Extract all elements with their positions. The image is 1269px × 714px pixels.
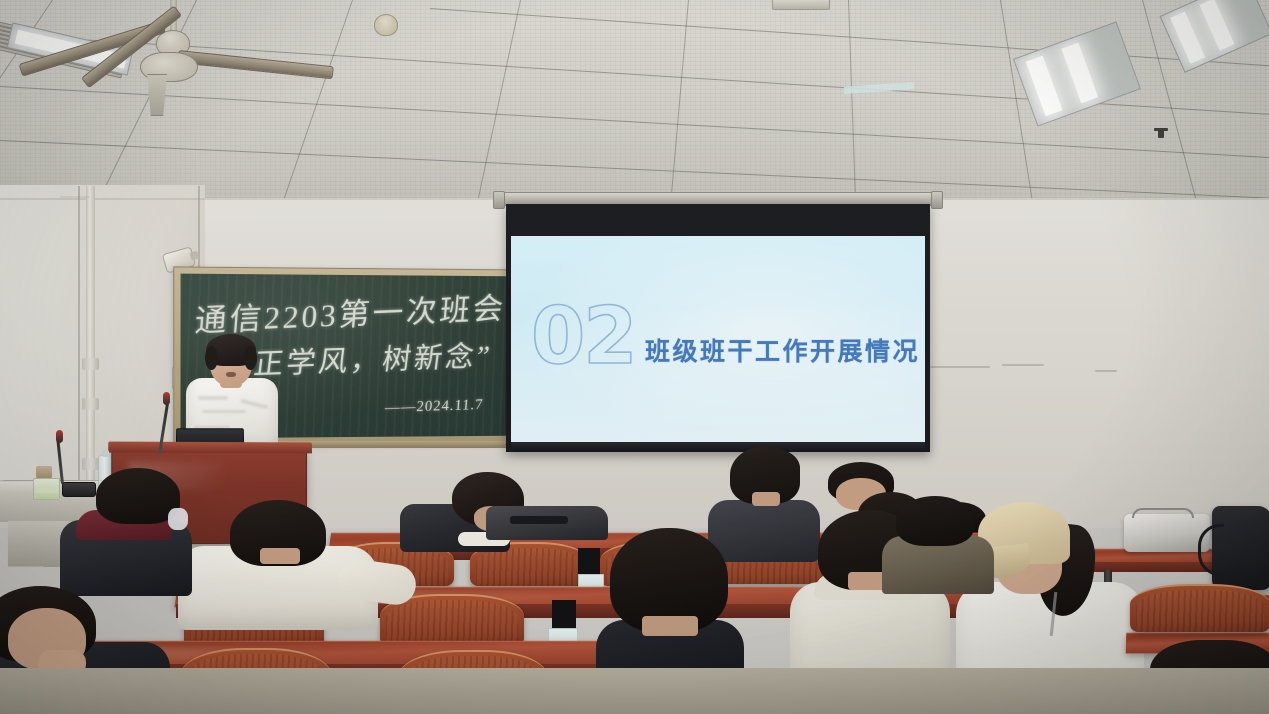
- conduit-clip: [82, 358, 99, 370]
- desk-microphone-head: [56, 430, 63, 443]
- student-cream-sweatshirt: [178, 500, 396, 626]
- blackboard-date-text: ——2024.11.7: [384, 397, 484, 417]
- lectern-top-edge: [108, 442, 312, 454]
- projected-slide: 02 班级班干工作开展情况: [511, 236, 925, 442]
- student-neck: [260, 548, 300, 564]
- student-neck: [642, 616, 698, 636]
- face-mask: [168, 508, 188, 530]
- wall-scuff: [1095, 370, 1117, 372]
- wall-seam: [78, 186, 80, 502]
- floor: [0, 668, 1269, 714]
- conduit-clip: [82, 398, 99, 410]
- presenter-hair-right: [244, 346, 257, 370]
- presenter-mouth: [226, 372, 236, 377]
- student-masked: [60, 468, 200, 588]
- wall-scuff: [930, 366, 990, 368]
- smoke-detector: [374, 14, 398, 36]
- presenter-hair-left: [205, 346, 218, 370]
- bag-dark-detail: [510, 516, 568, 524]
- slide-number: 02: [531, 298, 636, 376]
- classroom-photo: 通信2203第一次班会 “正学风，树新念” ——2024.11.7 02 班级班…: [0, 0, 1269, 714]
- conduit-pipe: [86, 186, 95, 496]
- student-brown-jacket: [882, 496, 994, 586]
- projector-screen: 02 班级班干工作开展情况: [506, 204, 930, 452]
- ceiling-projector: [772, 0, 830, 10]
- wall-scuff: [1002, 364, 1044, 366]
- student-neck: [752, 492, 780, 506]
- snack-box: [33, 478, 60, 500]
- student-hair: [896, 496, 974, 546]
- wall-scuff: [60, 196, 90, 198]
- sprinkler-head: [1158, 128, 1164, 138]
- lectern-microphone-head: [163, 392, 170, 405]
- slide-title: 班级班干工作开展情况: [645, 332, 920, 368]
- ceiling: [0, 0, 1269, 210]
- chair[interactable]: [1130, 584, 1269, 632]
